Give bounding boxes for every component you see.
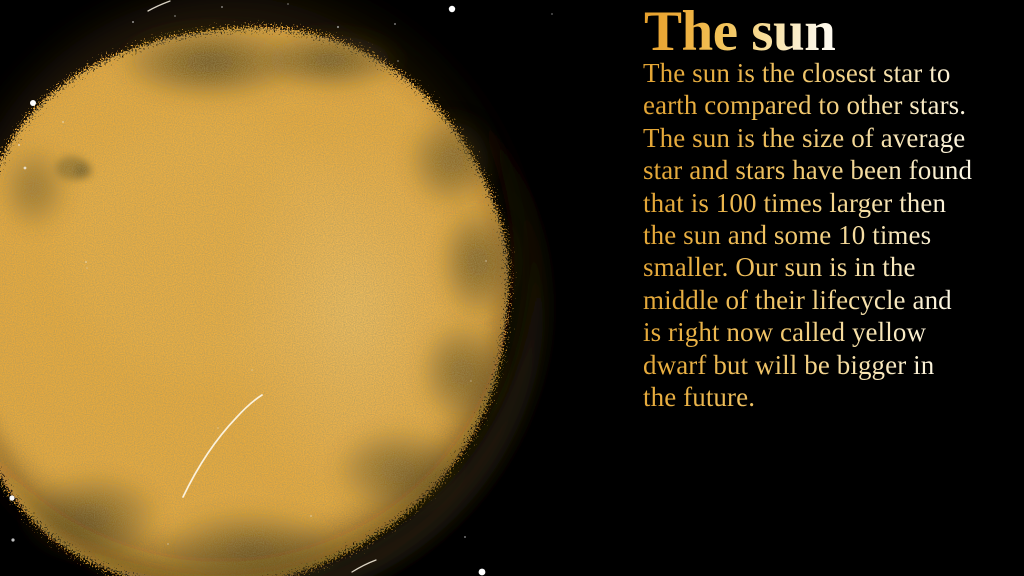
star xyxy=(24,167,27,170)
star xyxy=(174,15,176,17)
article-body: The sun is the closest star to earth com… xyxy=(643,57,973,413)
star xyxy=(30,100,36,106)
star xyxy=(470,380,472,382)
star xyxy=(167,543,169,545)
sun-illustration xyxy=(0,0,620,576)
star xyxy=(397,60,399,62)
star xyxy=(394,23,396,25)
page-title: The sun xyxy=(644,2,835,62)
star xyxy=(287,3,289,5)
sun-graphic xyxy=(0,0,620,576)
star xyxy=(9,495,14,500)
star xyxy=(251,369,253,371)
star xyxy=(85,261,87,263)
star xyxy=(62,121,64,123)
star xyxy=(449,6,455,12)
star xyxy=(221,6,223,8)
star xyxy=(485,260,487,262)
star xyxy=(132,21,134,23)
star xyxy=(11,538,14,541)
star xyxy=(310,515,312,517)
star xyxy=(337,26,339,28)
star xyxy=(464,536,466,538)
text-panel: The sun The sun is the closest star to e… xyxy=(620,0,1024,576)
star xyxy=(479,569,486,576)
slide-root: The sun The sun is the closest star to e… xyxy=(0,0,1024,576)
star xyxy=(18,144,20,146)
star xyxy=(86,267,88,269)
star xyxy=(551,13,553,15)
star xyxy=(217,427,219,429)
